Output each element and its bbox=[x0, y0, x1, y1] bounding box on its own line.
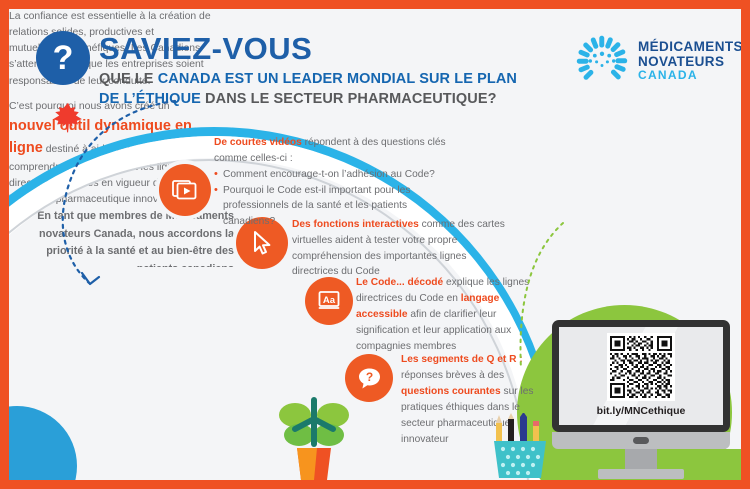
feature-qa-text-1: réponses brèves à des bbox=[401, 370, 504, 381]
subtitle-line1-prefix: QUE LE bbox=[99, 71, 158, 87]
question-mark-icon: ? bbox=[36, 31, 90, 85]
svg-text:Aa: Aa bbox=[323, 295, 336, 306]
brand-line-1: MÉDICAMENTS bbox=[638, 39, 741, 54]
feature-qa-lead: Les segments de Q et R : bbox=[401, 354, 523, 365]
monitor-neck bbox=[625, 449, 657, 471]
cursor-arrow-icon bbox=[250, 230, 274, 256]
infographic-poster: ? SAVIEZ-VOUS QUE LE CANADA EST UN LEADE… bbox=[0, 0, 750, 489]
feature-qa-highlight: questions courantes bbox=[401, 386, 501, 397]
svg-text:?: ? bbox=[365, 370, 372, 384]
feature-code-lead: Le Code... décodé bbox=[356, 277, 443, 288]
page-title: SAVIEZ-VOUS bbox=[99, 33, 559, 66]
subtitle-line2-suffix: DANS LE SECTEUR PHARMACEUTIQUE? bbox=[201, 91, 497, 107]
qr-code-icon[interactable] bbox=[607, 333, 675, 401]
monitor-bezel: bit.ly/MNCethique bbox=[552, 320, 730, 432]
potted-plant-icon bbox=[271, 395, 357, 480]
poster-canvas: ? SAVIEZ-VOUS QUE LE CANADA EST UN LEADE… bbox=[9, 9, 741, 480]
brand-line-2: NOVATEURS bbox=[638, 54, 741, 69]
list-item: Comment encourage-t-on l’adhésion au Cod… bbox=[214, 167, 459, 183]
feature-icon-videos[interactable] bbox=[159, 164, 211, 216]
video-stack-icon bbox=[172, 177, 198, 203]
feature-interactive-lead: Des fonctions interactives bbox=[292, 219, 419, 230]
feature-icon-code-decoded[interactable]: Aa bbox=[305, 277, 353, 325]
maple-leaf-icon bbox=[51, 101, 85, 135]
monitor-screen: bit.ly/MNCethique bbox=[559, 327, 723, 425]
monitor-foot bbox=[598, 469, 684, 479]
brand-logo: MÉDICAMENTS NOVATEURS CANADA bbox=[575, 34, 741, 88]
dictionary-aa-icon: Aa bbox=[317, 289, 341, 313]
qr-code-matrix bbox=[610, 336, 672, 398]
brand-line-3: CANADA bbox=[638, 69, 741, 82]
feature-videos-lead: De courtes vidéos bbox=[214, 137, 302, 148]
pencil-cup-icon bbox=[486, 413, 558, 480]
trust-lead: La confiance bbox=[9, 11, 68, 22]
brand-logo-text: MÉDICAMENTS NOVATEURS CANADA bbox=[638, 39, 741, 83]
question-bubble-icon: ? bbox=[357, 366, 382, 391]
qr-link-label[interactable]: bit.ly/MNCethique bbox=[559, 405, 723, 417]
starburst-icon bbox=[575, 34, 629, 88]
subtitle-line1-strong: CANADA EST UN LEADER MONDIAL SUR LE PLAN bbox=[158, 71, 517, 87]
monitor-button bbox=[633, 437, 649, 444]
desktop-monitor-icon: bit.ly/MNCethique bbox=[552, 320, 741, 480]
feature-text-code-decoded: Le Code... décodé explique les lignes di… bbox=[356, 275, 531, 356]
feature-text-interactive: Des fonctions interactives comme des car… bbox=[292, 217, 507, 280]
feature-text-videos: De courtes vidéos répondent à des questi… bbox=[214, 135, 459, 229]
